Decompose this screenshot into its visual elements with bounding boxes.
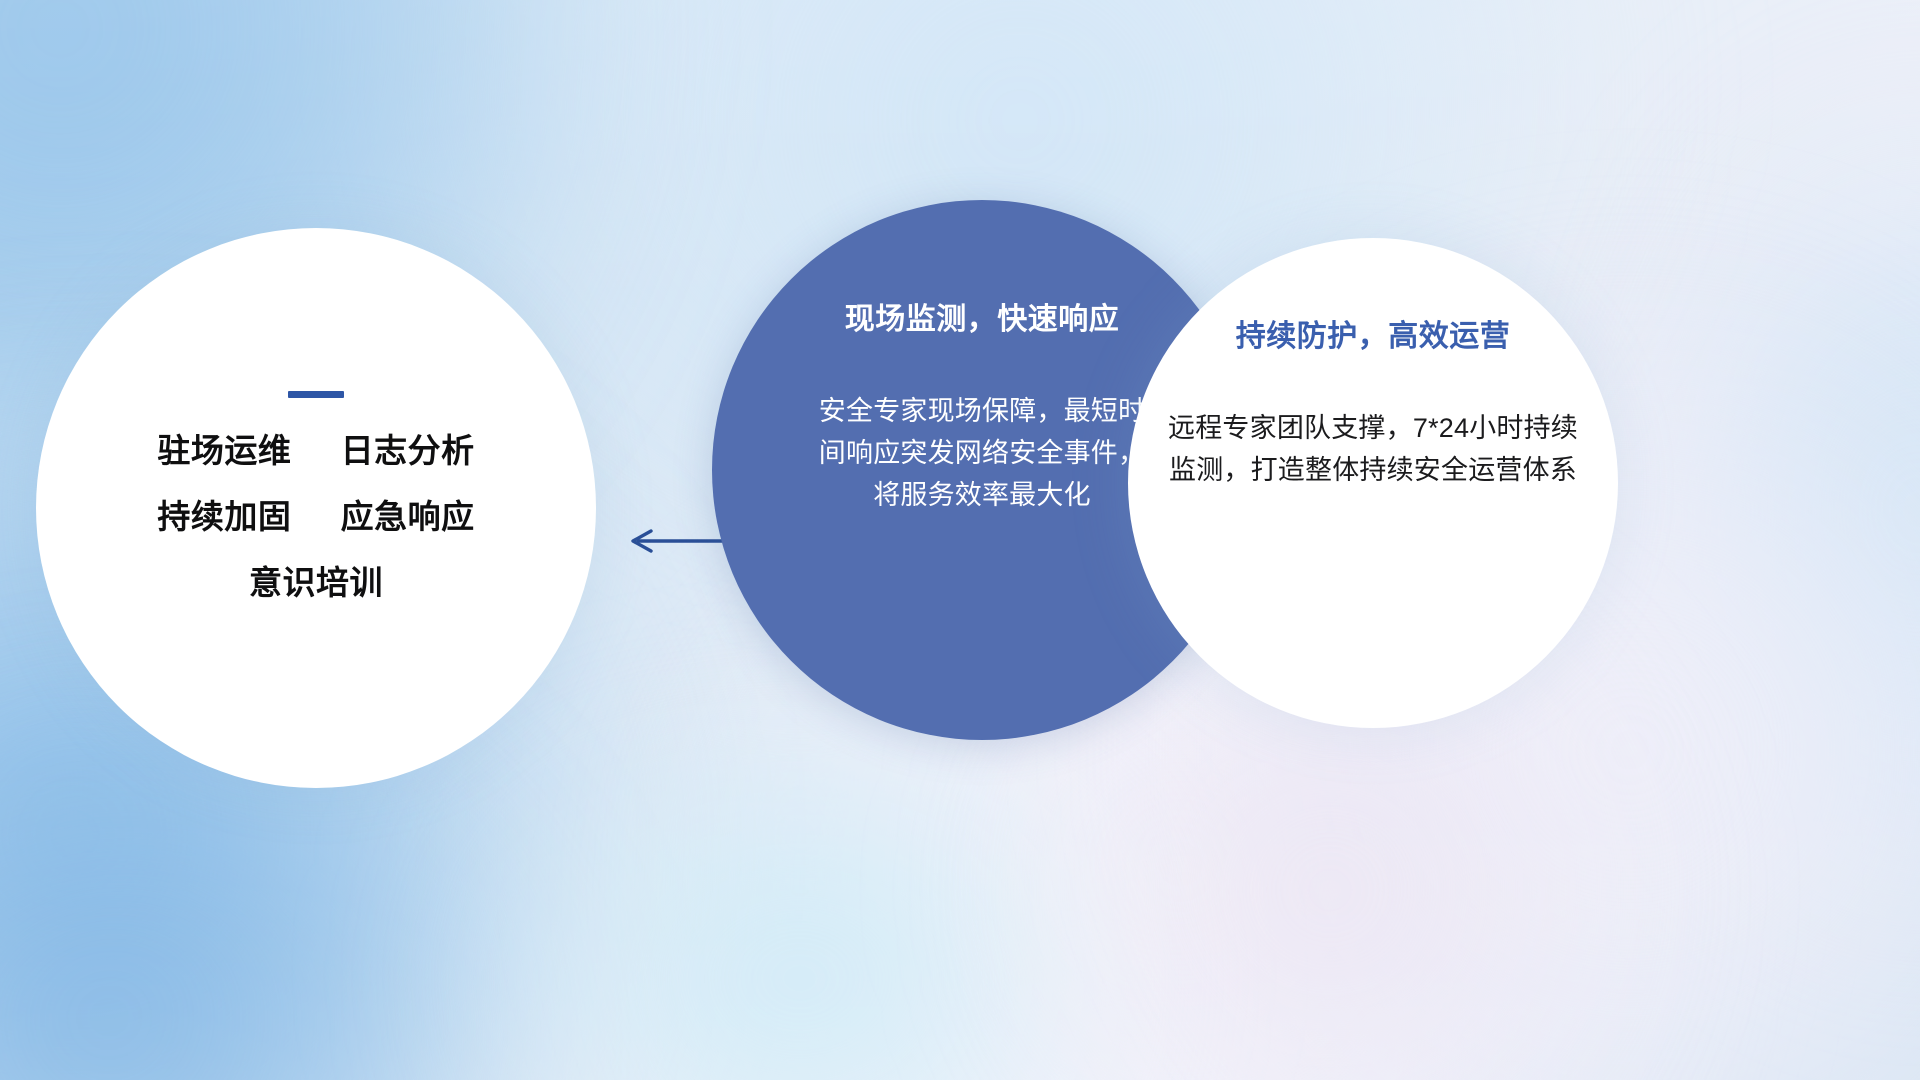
left-node-line-1-left: 驻场运维 — [157, 432, 291, 469]
left-node-line-1-right: 日志分析 — [341, 432, 475, 469]
left-node-line-2-left: 持续加固 — [157, 498, 291, 535]
left-node-line-3: 意识培训 — [157, 566, 474, 599]
left-node-text-block: 驻场运维 日志分析 持续加固 应急响应 意识培训 — [157, 434, 474, 599]
right-node-title: 持续防护，高效运营 — [1236, 311, 1511, 355]
left-node-line-2: 持续加固 应急响应 — [157, 500, 474, 533]
left-node-line-2-right: 应急响应 — [341, 498, 475, 535]
node-left-capabilities[interactable]: 驻场运维 日志分析 持续加固 应急响应 意识培训 — [36, 228, 596, 788]
right-node-body: 远程专家团队支撑，7*24小时持续监测，打造整体持续安全运营体系 — [1161, 407, 1585, 491]
left-node-line-1: 驻场运维 日志分析 — [157, 434, 474, 467]
left-node-line-3-left: 意识培训 — [249, 564, 383, 601]
node-right-continuous-protection[interactable]: 持续防护，高效运营 远程专家团队支撑，7*24小时持续监测，打造整体持续安全运营… — [1128, 238, 1618, 728]
middle-node-body: 安全专家现场保障，最短时间响应突发网络安全事件，将服务效率最大化 — [817, 390, 1147, 516]
middle-node-title: 现场监测，快速响应 — [845, 294, 1120, 338]
diagram-stage: 驻场运维 日志分析 持续加固 应急响应 意识培训 现场监测，快速响应 安全专家现… — [0, 0, 1920, 1080]
divider-dash — [288, 391, 344, 398]
